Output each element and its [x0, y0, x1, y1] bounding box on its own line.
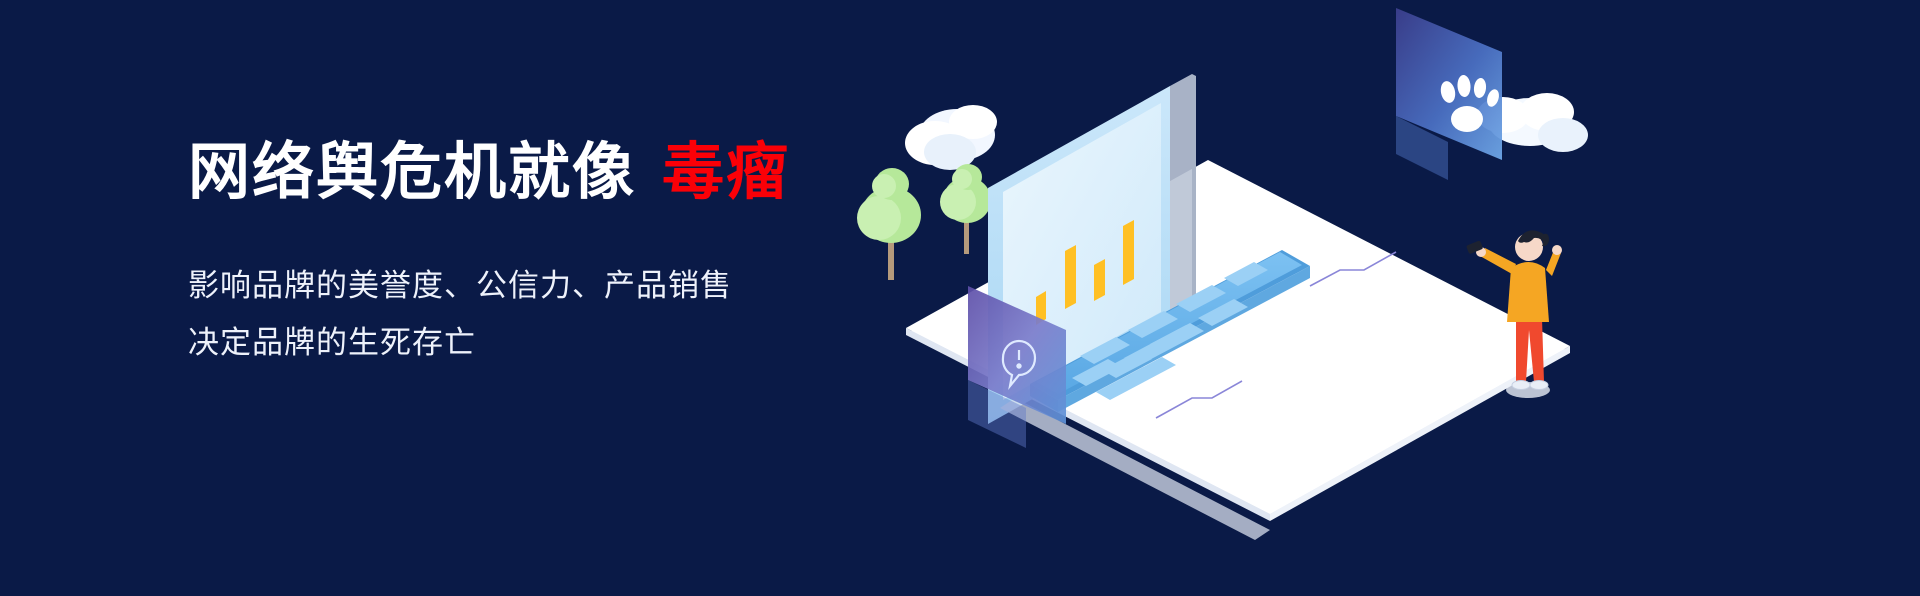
- headline-red-text: 毒瘤: [662, 138, 790, 207]
- cloud-left-icon: [905, 105, 997, 170]
- tree-right-icon: [940, 164, 991, 254]
- headline-white-text: 网络舆危机就像: [188, 138, 636, 207]
- paw-card: [1396, 8, 1502, 180]
- hero-banner: 网络舆危机就像毒瘤 影响品牌的美誉度、公信力、产品销售 决定品牌的生死存亡: [0, 0, 1920, 596]
- hero-illustration: [840, 0, 1920, 596]
- tree-left-icon: [857, 168, 921, 280]
